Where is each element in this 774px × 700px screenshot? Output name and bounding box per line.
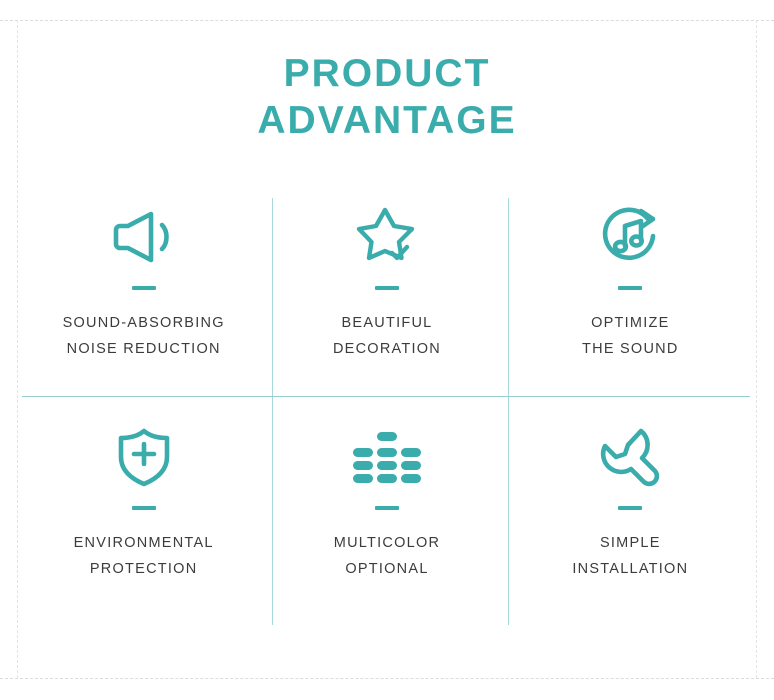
feature-dash (618, 286, 642, 290)
feature-dash (375, 506, 399, 510)
feature-caption-line-2: THE SOUND (582, 336, 679, 362)
page-title-line-1: PRODUCT (0, 50, 774, 97)
feature-dash (132, 506, 156, 510)
feature-caption-line-2: NOISE REDUCTION (63, 336, 225, 362)
music-note-refresh-icon (587, 198, 673, 276)
feature-caption: BEAUTIFUL DECORATION (333, 310, 441, 362)
feature-caption-line-1: MULTICOLOR (334, 530, 441, 556)
page-title-line-2: ADVANTAGE (0, 97, 774, 144)
feature-caption-line-1: SIMPLE (572, 530, 688, 556)
feature-card-optimize-sound: OPTIMIZE THE SOUND (509, 192, 752, 412)
feature-caption-line-1: ENVIRONMENTAL (74, 530, 214, 556)
feature-card-multicolor-optional: MULTICOLOR OPTIONAL (265, 412, 508, 632)
feature-card-beautiful-decoration: BEAUTIFUL DECORATION (265, 192, 508, 412)
star-check-icon (344, 198, 430, 276)
feature-caption-line-2: INSTALLATION (572, 556, 688, 582)
feature-caption-line-1: SOUND-ABSORBING (63, 310, 225, 336)
feature-grid: SOUND-ABSORBING NOISE REDUCTION BEAUTIFU… (22, 192, 752, 632)
page-rule-top (0, 20, 774, 21)
page-rule-bottom (0, 678, 774, 679)
feature-dash (375, 286, 399, 290)
feature-caption-line-2: PROTECTION (74, 556, 214, 582)
feature-caption: SOUND-ABSORBING NOISE REDUCTION (63, 310, 225, 362)
shield-plus-icon (101, 418, 187, 496)
feature-caption-line-1: BEAUTIFUL (333, 310, 441, 336)
wrench-icon (587, 418, 673, 496)
feature-dash (618, 506, 642, 510)
product-advantage-page: PRODUCT ADVANTAGE SOUND-ABSORBING NOISE … (0, 0, 774, 700)
feature-caption: ENVIRONMENTAL PROTECTION (74, 530, 214, 582)
feature-card-environmental-protection: ENVIRONMENTAL PROTECTION (22, 412, 265, 632)
feature-card-sound-absorbing: SOUND-ABSORBING NOISE REDUCTION (22, 192, 265, 412)
feature-dash (132, 286, 156, 290)
feature-caption: OPTIMIZE THE SOUND (582, 310, 679, 362)
page-title: PRODUCT ADVANTAGE (0, 50, 774, 144)
feature-caption-line-1: OPTIMIZE (582, 310, 679, 336)
feature-caption: SIMPLE INSTALLATION (572, 530, 688, 582)
feature-card-simple-installation: SIMPLE INSTALLATION (509, 412, 752, 632)
feature-caption-line-2: OPTIONAL (334, 556, 441, 582)
speaker-volume-icon (101, 198, 187, 276)
feature-caption: MULTICOLOR OPTIONAL (334, 530, 441, 582)
equalizer-bars-icon (344, 418, 430, 496)
feature-caption-line-2: DECORATION (333, 336, 441, 362)
